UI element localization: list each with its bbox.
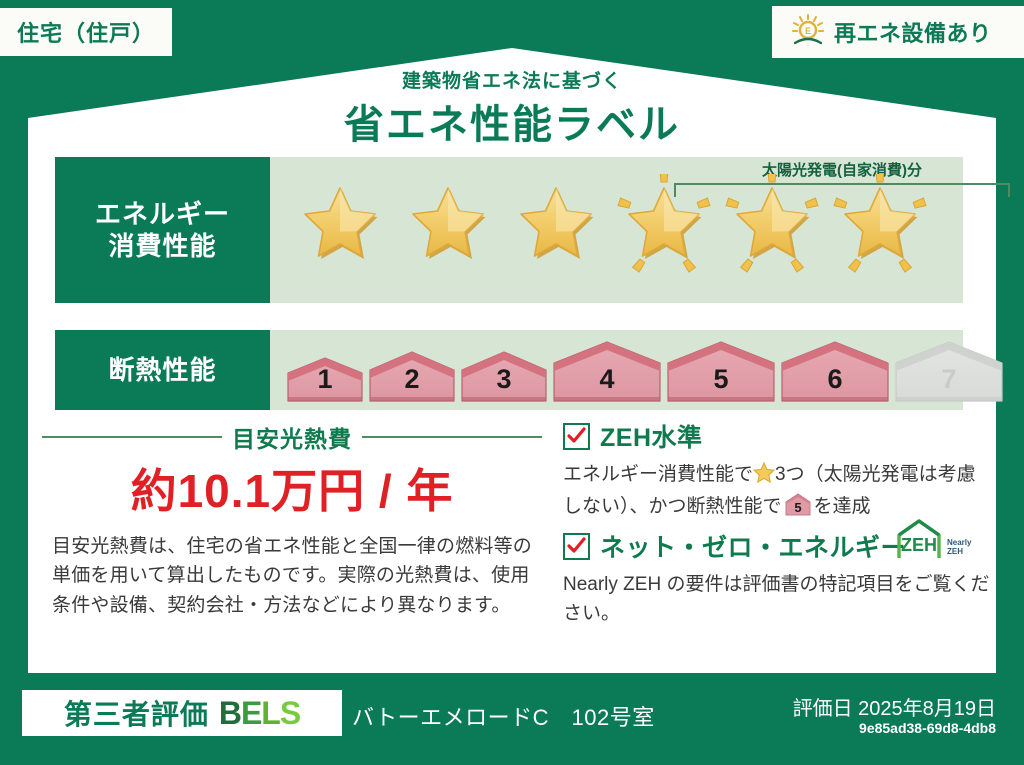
zeh-house-logo-icon: ZEH Nearly ZEH	[893, 518, 989, 562]
bels-jp-label: 第三者評価	[64, 693, 209, 733]
insulation-grade-scale: 1 2 3 4	[270, 330, 963, 410]
zeh-standard-block: ZEH水準 エネルギー消費性能で3つ（太陽光発電は考慮しない）、かつ断熱性能で5…	[563, 418, 983, 526]
energy-label-line1: エネルギー	[95, 198, 230, 231]
house-grade-icon: 6	[780, 339, 890, 403]
zeh-standard-body: エネルギー消費性能で3つ（太陽光発電は考慮しない）、かつ断熱性能で5を達成	[563, 460, 983, 526]
badge-renewable-label: 再エネ設備あり	[834, 16, 992, 48]
evaluation-date: 評価日 2025年8月19日	[793, 692, 996, 721]
bels-letter-e: E	[241, 695, 261, 731]
energy-performance-label: 住宅（住戸） E 再エネ設備あり 建築物省エネ法に基づく 省エネ性能ラベル エネ…	[0, 0, 1024, 765]
insulation-grade-number: 2	[404, 364, 419, 403]
heading-rule-right	[362, 436, 542, 438]
house-grade-icon: 5	[784, 493, 812, 525]
svg-text:Nearly: Nearly	[947, 538, 972, 547]
zeh-standard-body-part3: を達成	[814, 496, 871, 517]
energy-stars-panel: 太陽光発電(自家消費)分	[270, 157, 963, 303]
svg-text:E: E	[805, 26, 811, 36]
check-icon	[563, 533, 590, 560]
star-icon-solar	[718, 174, 826, 286]
insulation-grade-number: 5	[713, 364, 728, 403]
star-icon-solar	[826, 174, 934, 286]
house-grade-icon: 3	[460, 349, 548, 403]
utility-cost-heading: 目安光熱費	[42, 420, 542, 454]
insulation-grade-panel: 1 2 3 4	[270, 330, 963, 410]
insulation-grade-number: 3	[496, 364, 511, 403]
insulation-label: 断熱性能	[108, 354, 216, 387]
bels-en-label: BELS	[219, 695, 300, 732]
insulation-performance-label-box: 断熱性能	[55, 330, 270, 410]
bels-letter-l: L	[261, 695, 280, 731]
bels-letter-s: S	[280, 695, 300, 731]
zeh-standard-title: ZEH水準	[600, 418, 703, 454]
badge-house-type-label: 住宅（住戸）	[17, 16, 155, 48]
utility-cost-note: 目安光熱費は、住宅の省エネ性能と全国一律の燃料等の単価を用いて算出したものです。…	[52, 532, 532, 620]
evaluation-id: 9e85ad38-69d8-4db8	[859, 720, 996, 736]
svg-text:ZEH: ZEH	[947, 547, 963, 556]
label-subtitle: 建築物省エネ法に基づく	[0, 66, 1024, 93]
zeh-standard-star-count: 3つ（太陽光発電	[775, 464, 919, 485]
energy-star-rating	[270, 157, 963, 303]
insulation-grade-number: 4	[599, 364, 614, 403]
star-icon	[286, 174, 394, 286]
star-icon	[502, 174, 610, 286]
net-zero-header: ネット・ゼロ・エネルギー ZEH Nearly ZEH	[563, 528, 993, 564]
bels-logo: 第三者評価 BELS	[22, 690, 342, 736]
badge-renewable-equipment: E 再エネ設備あり	[772, 6, 1024, 58]
zeh-standard-header: ZEH水準	[563, 418, 983, 454]
badge-house-type: 住宅（住戸）	[0, 8, 172, 56]
utility-cost-label: 目安光熱費	[232, 420, 352, 454]
net-zero-title: ネット・ゼロ・エネルギー	[600, 528, 906, 564]
bels-letter-b: B	[219, 695, 241, 731]
house-grade-icon: 5	[666, 339, 776, 403]
insulation-performance-row: 断熱性能 1 2 3	[55, 330, 963, 410]
net-zero-body: Nearly ZEH の要件は評価書の特記項目をご覧ください。	[563, 570, 993, 629]
svg-text:ZEH: ZEH	[901, 535, 937, 555]
house-grade-icon: 7	[894, 339, 1004, 403]
insulation-grade-number: 6	[827, 364, 842, 403]
page-title: 省エネ性能ラベル	[0, 92, 1024, 150]
insulation-grade-number: 7	[941, 364, 956, 403]
utility-cost-value: 約10.1万円 / 年	[42, 455, 542, 521]
energy-performance-row: エネルギー 消費性能 太陽光発電(自家消費)分	[55, 157, 963, 303]
heading-rule-left	[42, 436, 222, 438]
energy-performance-label-box: エネルギー 消費性能	[55, 157, 270, 303]
star-icon-solar	[610, 174, 718, 286]
star-icon	[394, 174, 502, 286]
house-grade-icon: 4	[552, 339, 662, 403]
zeh-standard-body-part1: エネルギー消費性能で	[563, 464, 753, 485]
energy-label-line2: 消費性能	[108, 230, 216, 263]
house-grade-icon: 1	[286, 355, 364, 403]
star-icon	[753, 462, 775, 492]
building-name: バトーエメロードC 102号室	[352, 700, 655, 732]
solar-sun-icon: E	[790, 13, 826, 52]
svg-text:5: 5	[794, 500, 801, 515]
insulation-grade-number: 1	[317, 364, 332, 403]
house-grade-icon: 2	[368, 349, 456, 403]
net-zero-energy-block: ネット・ゼロ・エネルギー ZEH Nearly ZEH Nearly ZEH の…	[563, 528, 993, 629]
check-icon	[563, 423, 590, 450]
